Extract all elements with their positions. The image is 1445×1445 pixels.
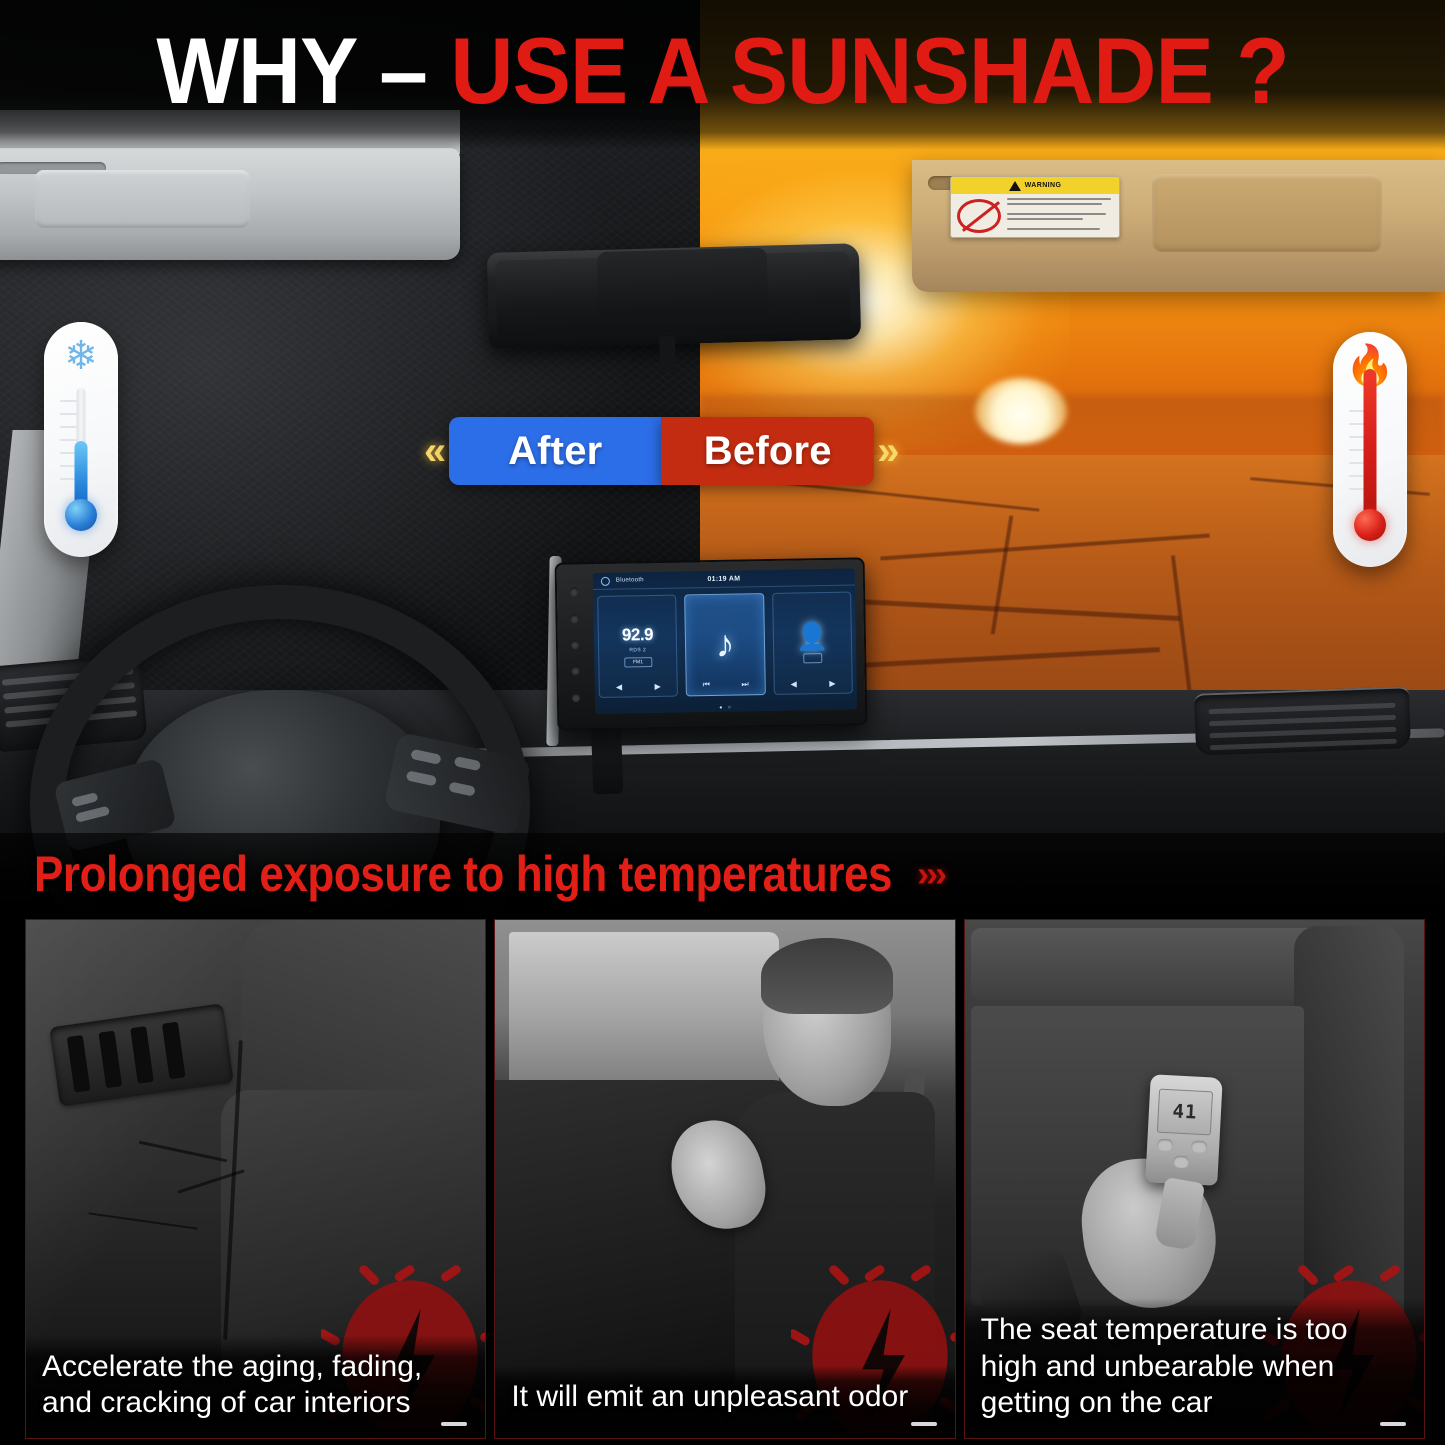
music-ffw-icon[interactable]: ⏭ — [741, 679, 748, 689]
head-unit-source: Bluetooth — [616, 577, 644, 583]
cold-thermometer: ❄ — [44, 322, 118, 557]
section-banner: Prolonged exposure to high temperatures … — [0, 833, 1445, 915]
music-controls[interactable]: ⏮ ⏭ — [687, 679, 764, 690]
title-white-part: WHY – — [156, 18, 427, 123]
banner-chevrons-icon: ››› — [917, 853, 944, 895]
music-rew-icon[interactable]: ⏮ — [703, 680, 710, 690]
page-indicator: ● ○ — [595, 702, 857, 713]
warning-text-lines — [1007, 198, 1115, 233]
volume-button[interactable] — [571, 640, 579, 648]
after-badge[interactable]: After — [449, 417, 661, 485]
air-vent-right — [1194, 686, 1411, 755]
panel-seat-temperature: 41 The seat temperature is too high and … — [964, 919, 1425, 1439]
phone-controls[interactable]: ◀ ▶ — [774, 679, 851, 689]
sun-visor-grey — [0, 148, 460, 260]
phone-prev-icon[interactable]: ◀ — [791, 680, 797, 689]
snowflake-icon: ❄ — [44, 336, 118, 376]
visor-pocket — [35, 170, 250, 228]
man-hair — [761, 938, 893, 1014]
radio-next-icon[interactable]: ▶ — [655, 682, 661, 691]
left-chevron-icon: « — [424, 431, 446, 471]
page-title: WHY – USE A SUNSHADE ? — [51, 24, 1395, 118]
thermometer-bulb-cold — [65, 499, 97, 531]
seat-cushion — [221, 1090, 486, 1370]
before-after-badges: « After Before » — [424, 414, 949, 488]
menu-button[interactable] — [570, 614, 578, 622]
thermometer-lcd: 41 — [1156, 1089, 1212, 1136]
gun-button-right — [1190, 1140, 1207, 1153]
no-child-seat-icon — [957, 199, 1001, 233]
thermometer-mercury-hot — [1364, 369, 1377, 519]
radio-frequency: 92.9 — [622, 625, 653, 646]
music-note-icon: ♪ — [715, 626, 735, 664]
banner-text: Prolonged exposure to high temperatures — [34, 845, 892, 903]
panel-caption-wrap: Accelerate the aging, fading, and cracki… — [26, 1335, 485, 1438]
seat-headrest — [971, 928, 1344, 1000]
seat-bolster — [1294, 926, 1404, 1356]
head-unit-side-buttons[interactable] — [563, 578, 587, 710]
man-smelling-odor-photo — [495, 920, 954, 1438]
power-button[interactable] — [570, 588, 578, 596]
mode-button[interactable] — [571, 667, 579, 675]
gun-button-left — [1157, 1139, 1174, 1152]
panel-caption: The seat temperature is too high and unb… — [981, 1312, 1408, 1422]
head-unit-screen[interactable]: Bluetooth 01:19 AM 92.9 RDS 2 FM1 ◀ ▶ — [593, 568, 857, 714]
gun-button-center — [1173, 1155, 1190, 1168]
sun-disc — [975, 378, 1067, 444]
head-unit-clock: 01:19 AM — [707, 575, 740, 583]
consequence-panels: Accelerate the aging, fading, and cracki… — [0, 915, 1445, 1445]
thermometer-reading: 41 — [1172, 1100, 1198, 1123]
mirror-stem — [659, 336, 676, 370]
bluetooth-icon — [601, 576, 610, 585]
before-badge[interactable]: Before — [661, 417, 874, 485]
warning-heading: WARNING — [1025, 182, 1062, 189]
warning-triangle-icon — [1009, 181, 1021, 191]
visor-pocket — [1152, 174, 1382, 252]
phone-card[interactable]: 👤 ◀ ▶ — [772, 592, 853, 695]
warning-bar: WARNING — [951, 177, 1119, 194]
rearview-mirror — [487, 243, 861, 349]
panel-unpleasant-odor: It will emit an unpleasant odor — [494, 919, 955, 1439]
radio-controls[interactable]: ◀ ▶ — [600, 682, 677, 692]
radio-rds: RDS 2 — [629, 647, 646, 653]
hot-thermometer: 🔥 — [1333, 332, 1407, 567]
caption-dash-mark — [1380, 1422, 1406, 1426]
radio-prev-icon[interactable]: ◀ — [616, 683, 622, 692]
music-card[interactable]: ♪ ⏮ ⏭ — [684, 593, 765, 696]
before-after-hero: WARNING — [0, 0, 1445, 915]
panel-caption-wrap: It will emit an unpleasant odor — [495, 1365, 954, 1438]
mirror-housing — [597, 248, 769, 318]
home-button[interactable] — [572, 693, 580, 701]
panel-aging-interiors: Accelerate the aging, fading, and cracki… — [25, 919, 486, 1439]
infotainment-head-unit[interactable]: Bluetooth 01:19 AM 92.9 RDS 2 FM1 ◀ ▶ — [555, 557, 868, 730]
contact-person-icon: 👤 — [796, 623, 829, 650]
airbag-warning-label: WARNING — [950, 176, 1120, 238]
caption-dash-mark — [441, 1422, 467, 1426]
infrared-thermometer-gun: 41 — [1145, 1074, 1223, 1186]
car-window — [509, 932, 779, 1082]
title-red-part: USE A SUNSHADE ? — [450, 18, 1288, 123]
radio-band[interactable]: FM1 — [624, 657, 652, 667]
panel-caption: Accelerate the aging, fading, and cracki… — [42, 1349, 469, 1422]
phone-chip[interactable] — [803, 653, 823, 663]
right-chevron-icon: » — [877, 431, 899, 471]
thermometer-bulb-hot — [1354, 509, 1386, 541]
phone-next-icon[interactable]: ▶ — [829, 679, 835, 688]
product-infographic: WARNING — [0, 0, 1445, 1445]
caption-dash-mark — [911, 1422, 937, 1426]
defroster-vent — [49, 1003, 233, 1107]
head-unit-body: 92.9 RDS 2 FM1 ◀ ▶ ♪ ⏮ ⏭ — [593, 585, 857, 704]
radio-card[interactable]: 92.9 RDS 2 FM1 ◀ ▶ — [597, 595, 678, 698]
panel-caption: It will emit an unpleasant odor — [511, 1379, 938, 1416]
panel-caption-wrap: The seat temperature is too high and unb… — [965, 1298, 1424, 1438]
